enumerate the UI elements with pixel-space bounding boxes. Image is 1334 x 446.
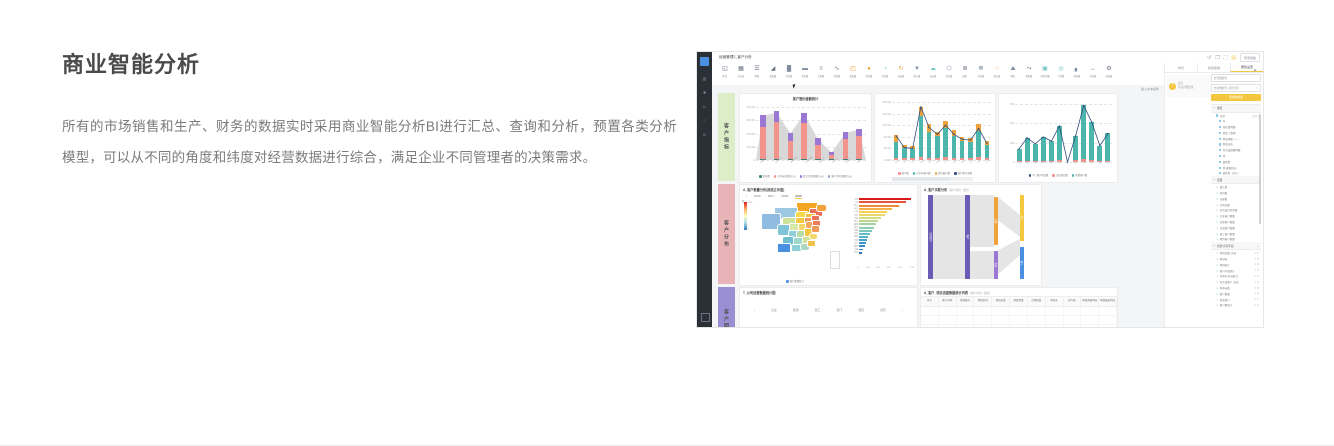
tree-item-label: 合同金额 <box>1220 203 1230 207</box>
article-block: 商业智能分析 所有的市场销售和生产、财务的数据实时采用商业智能分析BI进行汇总、… <box>62 52 677 173</box>
chart-type-label: 明细 <box>755 74 759 77</box>
chart1-x-labels: 中国南方中国北方中国东部中国西部海外区华东区华南区华北区 <box>756 161 866 165</box>
chart-type-icon: ◰ <box>850 65 856 73</box>
chart2-range-slider[interactable] <box>892 177 973 181</box>
bottom-stats-card[interactable]: T_公司经营数据统计图 ‹企业集团员工部门项目合同› <box>739 287 918 327</box>
x-tick: 04月 <box>919 158 925 164</box>
dashboard-canvas: 插入文本组件 客户指标 客户分布 客户明细 客户签约金额统计 400,00030… <box>712 85 1165 327</box>
table-column-header[interactable]: 序号 <box>921 297 939 306</box>
sankey-node-customer[interactable]: 客户 <box>965 195 970 279</box>
legend-item[interactable]: 签约数 <box>759 174 770 178</box>
table-header-row: 序号客户名称项目编号项目名称项目分类项目等级合同阶段中标年天气候项目开始时间项目… <box>921 296 1117 307</box>
table-column-header[interactable]: 合同阶段 <box>1028 297 1046 306</box>
table-column-header[interactable]: 客户名称 <box>939 297 957 306</box>
measure-icon: ∿ <box>1216 221 1218 223</box>
detail-table-card[interactable]: A_客户_项目进度数据统计列表[客户/省份 - 数行] 序号客户名称项目编号项目… <box>920 287 1118 327</box>
tree-group-维度[interactable]: ⌃维度 <box>1211 105 1261 113</box>
globe-icon[interactable]: ✹ <box>702 90 707 95</box>
prev-year-arrow[interactable]: ‹ <box>746 194 747 199</box>
x-tick: 02 <box>1026 161 1029 164</box>
tree-item-label: 季度（四季） <box>1223 131 1238 135</box>
ranking-bar <box>859 249 863 251</box>
tree-item-actions[interactable]: ✎ ⚙ <box>1254 252 1259 255</box>
bottom-tab-集团[interactable]: 集团 <box>793 308 799 312</box>
chart-type-0[interactable]: ◱区域 <box>717 65 733 78</box>
chart-type-label: 树图 <box>963 74 967 77</box>
table-cell <box>1064 325 1082 327</box>
dimension-icon <box>1219 155 1221 157</box>
table-title: A_客户_项目进度数据统计列表[客户/省份 - 数行] <box>924 290 990 295</box>
tree-item-actions[interactable]: ✎ ⚙ <box>1254 263 1259 266</box>
table-cell <box>1046 316 1064 324</box>
chart-type-13[interactable]: ☁词云图 <box>925 65 941 78</box>
bottom-tab-企业[interactable]: 企业 <box>771 308 777 312</box>
legend-label: 已中标客户数 <box>916 172 930 175</box>
ranking-row[interactable]: 广东 <box>850 201 914 204</box>
map-year-tabs[interactable]: ‹2016201720182019 <box>746 194 802 199</box>
chart-type-label: 面积图 <box>770 74 777 77</box>
tree-group-度量[interactable]: ⌃度量 <box>1211 176 1261 184</box>
chart-type-6[interactable]: ≡比例图 <box>813 65 829 78</box>
ranking-bar <box>859 211 887 213</box>
bar-group[interactable] <box>829 107 835 160</box>
map-scale-max: 1542 <box>748 202 752 204</box>
tree-item-label: 客户产值统计 <box>1220 269 1235 273</box>
bar-group[interactable] <box>815 107 821 160</box>
ranking-bar <box>859 205 899 207</box>
sankey-node-finished[interactable]: 竣工 <box>1020 247 1024 279</box>
chart3-legend: YL_客户项目数已投项目数新增客户数 <box>999 173 1117 177</box>
bar-group[interactable] <box>760 107 766 160</box>
grid-icon[interactable]: ▦ <box>1254 68 1257 72</box>
ranking-x-tick: 600 <box>877 267 880 269</box>
x-tick: 10 <box>1091 161 1094 164</box>
tree-item-actions[interactable]: ✎ ⚙ <box>1254 269 1259 272</box>
undo-icon[interactable]: ↺ <box>1207 55 1211 61</box>
x-tick: 10月 <box>968 158 974 164</box>
chart-type-9[interactable]: ●饼状图 <box>861 65 877 78</box>
ranking-bar <box>859 230 872 232</box>
table-cell <box>939 316 957 324</box>
table-cell <box>992 325 1010 327</box>
table-row[interactable] <box>921 307 1117 316</box>
tree-item[interactable]: ∿客户数统计✎ ⚙ <box>1211 303 1261 309</box>
tree-item-actions[interactable]: ✎ ⚙ <box>1254 287 1259 290</box>
dimension-icon <box>1219 167 1221 169</box>
table-cell <box>921 316 939 324</box>
y-tick: 90,000 <box>881 136 891 139</box>
app-rail: ▥ ✹ ⋋ ⟋ ⚖ <box>697 52 712 327</box>
panel-scrollbar[interactable] <box>1259 114 1261 224</box>
table-row[interactable] <box>921 316 1117 325</box>
series-line <box>1015 104 1112 162</box>
map-province[interactable] <box>816 204 827 212</box>
tree-item-actions[interactable]: ✎ ⚙ <box>1254 304 1259 307</box>
sankey-card-customer-relations[interactable]: A_客户关联分布[客户/省份 - 数行] 合同签约 客户 在建 投标 完工 竣工 <box>920 184 1042 286</box>
chart-type-icon: ☁ <box>930 65 936 73</box>
chart-type-label: 雷达图 <box>946 74 953 77</box>
tree-item-label: 客户数统计 <box>1220 303 1233 307</box>
chart2-plot: 180,000150,000120,00090,00060,00030,000 <box>892 102 991 160</box>
chart1-title: 客户签约金额统计 <box>793 96 819 101</box>
ranking-bar <box>859 198 911 200</box>
chart-type-23[interactable]: ↔时间轴 <box>1085 65 1101 78</box>
tree-item-label: 年月 <box>1220 114 1225 118</box>
tree-item-actions[interactable]: ✎ ⚙ <box>1254 275 1259 278</box>
legend-item[interactable]: 签约客户数 <box>935 171 950 175</box>
chart-type-10[interactable]: ◔环形图 <box>877 65 893 78</box>
tree-item-label: 所在省明细... <box>1223 125 1238 129</box>
chart-type-icon: ⤳ <box>1027 65 1032 73</box>
x-tick: 08月 <box>952 158 958 164</box>
chart-type-icon: ◎ <box>1058 65 1063 73</box>
tree-item-actions[interactable]: ✎ ⚙ <box>1254 292 1259 295</box>
ranking-bar <box>859 201 906 203</box>
tree-item-label: 客户数量 <box>1220 292 1230 296</box>
map-province[interactable] <box>807 240 816 247</box>
bottom-tab-部门[interactable]: 部门 <box>837 308 843 312</box>
bar-group[interactable] <box>856 107 862 160</box>
sankey-node-contract[interactable]: 合同签约 <box>928 195 933 279</box>
table-cell <box>1064 307 1082 315</box>
people-icon[interactable]: ⚖ <box>702 132 707 137</box>
table-cell <box>1010 307 1028 315</box>
sankey-link-1 <box>933 195 965 279</box>
chart-type-icon: ≣ <box>962 65 967 73</box>
tree-item-actions[interactable]: ✎ ⚙ <box>1254 298 1259 301</box>
chart-type-label: 环形图 <box>882 74 889 77</box>
table-column-header[interactable]: 项目编号 <box>957 297 975 306</box>
panel-tab-0[interactable]: 样式 <box>1165 63 1197 72</box>
map-card-customer-distribution[interactable]: A_客户数量分布(按成立年度) ‹2016201720182019 数 1542… <box>739 184 918 286</box>
x-tick: 06 <box>1058 161 1061 164</box>
table-cell <box>1010 316 1028 324</box>
y-tick: 0 <box>1004 161 1014 164</box>
dataset-name-input[interactable]: 经营数据仓 <box>1211 74 1261 82</box>
y-tick: 100,000 <box>745 146 755 149</box>
measure-icon: ∿ <box>1216 304 1218 306</box>
legend-swatch <box>935 172 938 175</box>
chart2-x-labels: 01月02月03月04月05月06月07月08月09月10月11月12月 <box>892 161 991 165</box>
chart-type-label: 筛选器 <box>1106 74 1113 77</box>
chart-type-label: 地图 <box>1011 74 1015 77</box>
y-tick: 60,000 <box>881 147 891 150</box>
chart-type-icon: ⚙ <box>1106 65 1111 73</box>
table-cell <box>1064 316 1082 324</box>
table-cell <box>957 307 975 315</box>
year-tab-2019[interactable]: 2019 <box>795 194 802 199</box>
chart-type-7[interactable]: ∿折线图 <box>829 65 845 78</box>
table-column-header[interactable]: 项目名称 <box>974 297 992 306</box>
chart-type-16[interactable]: ☸分布图 <box>973 65 989 78</box>
legend-label: 签约客户数 <box>938 172 950 175</box>
measure-icon: ∿ <box>1216 299 1218 301</box>
table-cell <box>921 325 939 327</box>
chart-type-icon: ◢ <box>771 65 776 73</box>
detail-table: 序号客户名称项目编号项目名称项目分类项目等级合同阶段中标年天气候项目开始时间项目… <box>921 296 1117 327</box>
table-column-header[interactable]: 中标年 <box>1046 297 1064 306</box>
section-label-customer-metrics: 客户指标 <box>718 93 735 181</box>
x-tick: 03月 <box>910 158 916 164</box>
bar-segment-pink <box>856 136 862 159</box>
chart-type-label: 漏斗图 <box>914 74 921 77</box>
table-column-header[interactable]: 项目分类 <box>992 297 1010 306</box>
chart-type-24[interactable]: ⚙筛选器 <box>1101 65 1117 78</box>
tree-item-label: 已签客户数量 <box>1220 220 1235 224</box>
plus-icon[interactable]: + <box>1257 244 1259 248</box>
measure-icon: ∿ <box>1216 293 1218 295</box>
chart-type-19[interactable]: ⤳桑基图 <box>1021 65 1037 78</box>
sankey-link-3 <box>970 251 994 279</box>
legend-item[interactable]: 已中标客户数 <box>913 171 931 175</box>
chart-type-12[interactable]: ▼漏斗图 <box>909 65 925 78</box>
page-title: 商业智能分析 <box>62 52 677 78</box>
tree-item-label: 已中标-万元统计 <box>1220 274 1238 278</box>
chart-type-3[interactable]: ◢面积图 <box>765 65 781 78</box>
chart-type-4[interactable]: █柱状图 <box>781 65 797 78</box>
chart-type-22[interactable]: ▖瀑布图 <box>1069 65 1085 78</box>
tree-item-label: 省区划（合计） <box>1223 171 1241 175</box>
table-cell <box>921 307 939 315</box>
legend-swatch <box>1052 174 1055 177</box>
x-tick: 01月 <box>894 158 900 164</box>
legend-label: 客户数 <box>902 172 909 175</box>
tree-group-label: 维度 <box>1217 106 1223 110</box>
chart-card-monthly-projects[interactable]: 6004002000 010203040506070809101112 YL_客… <box>998 93 1118 183</box>
y-tick: 200,000 <box>745 132 755 135</box>
x-tick: 07 <box>1066 161 1069 164</box>
table-row[interactable] <box>921 325 1117 327</box>
legend-item[interactable]: 已中标(含税万元) <box>774 174 796 178</box>
sankey-node-bidding[interactable]: 投标 <box>994 251 998 279</box>
chart-type-label: 桑基图 <box>1026 74 1033 77</box>
y-tick: 400,000 <box>745 106 755 109</box>
tree-item-label: 已完成客户_万元 <box>1220 280 1239 284</box>
chart-type-label: 柱状图 <box>786 74 793 77</box>
measure-icon: ∿ <box>1216 281 1218 283</box>
ranking-bar <box>859 236 868 238</box>
bottom-tab-合同[interactable]: 合同 <box>880 308 886 312</box>
share-icon[interactable]: ⋋ <box>702 104 707 109</box>
change-dataset-button[interactable]: 更换数据集 <box>1211 94 1261 101</box>
tree-item-label: 项目客户数量 <box>1220 237 1235 241</box>
tree-item-label: 竣工数 <box>1220 185 1228 189</box>
ranking-x-tick: 900 <box>887 267 890 269</box>
right-config-panel: 样式模板数据属性设置 ! 提示 请选择数据集 ▦ ⌄ 经营数据仓 经营数据仓_项… <box>1164 63 1263 327</box>
year-tab-2016[interactable]: 2016 <box>754 194 761 199</box>
legend-item[interactable]: 签订合同金额(万元) <box>800 174 824 178</box>
tree-group-label: 新建计算字段 <box>1217 244 1234 248</box>
x-tick: 12 <box>1107 161 1110 164</box>
chart-card-monthly-customer[interactable]: 180,000150,000120,00090,00060,00030,000 … <box>874 93 996 183</box>
tree-item-actions[interactable]: 层次 ▾ <box>1252 114 1259 118</box>
warning-icon: ! <box>1169 83 1176 90</box>
table-cell <box>1046 325 1064 327</box>
x-tick: 04 <box>1042 161 1045 164</box>
bar-segment-purple <box>856 129 862 136</box>
legend-item[interactable]: 客户合同金额(万元) <box>828 174 852 178</box>
chart-type-icon: ↔ <box>1090 65 1096 73</box>
bar-segment-purple <box>801 113 807 124</box>
dashboard-icon[interactable]: ▥ <box>702 76 707 81</box>
chart-type-20[interactable]: ▣矩形树图 <box>1037 65 1053 78</box>
ranking-row[interactable]: 江苏 <box>850 198 914 201</box>
ranking-bar <box>859 245 865 247</box>
year-tab-2018[interactable]: 2018 <box>781 194 788 199</box>
tree-item-label: 季度分析 <box>1223 142 1233 146</box>
measure-icon: ∿ <box>1216 198 1218 200</box>
chart-type-21[interactable]: ◎气泡图 <box>1053 65 1069 78</box>
table-cell <box>1099 316 1117 324</box>
tree-group-新建计算字段[interactable]: ⌃新建计算字段+ <box>1211 242 1261 250</box>
bar-segment-purple <box>774 111 780 122</box>
measure-icon: ∿ <box>1216 209 1218 211</box>
tree-item-label: 新签客户 <box>1220 298 1230 302</box>
dimension-icon <box>1219 132 1221 134</box>
chart-type-8[interactable]: ◰面积图 <box>845 65 861 78</box>
y-tick: 150,000 <box>881 112 891 115</box>
table-column-header[interactable]: 天气候 <box>1064 297 1082 306</box>
dimension-icon <box>1219 161 1221 163</box>
series-line <box>892 102 991 160</box>
chevron-down-icon[interactable]: ⌄ <box>1258 68 1261 72</box>
chart-type-11[interactable]: ↻仪表盘 <box>893 65 909 78</box>
table-cell <box>1081 316 1099 324</box>
chart-type-2[interactable]: ☰明细 <box>749 65 765 78</box>
legend-label: 签订合同金额(万元) <box>803 175 824 178</box>
map-province[interactable] <box>777 243 791 254</box>
legend-swatch <box>800 175 803 178</box>
field-tree[interactable]: ⌃维度年月层次 ▾年所在省明细...季度（四季）季度明细（一...季度分析已完成… <box>1211 104 1261 309</box>
bar-group[interactable] <box>843 107 849 160</box>
x-tick: 07月 <box>943 158 949 164</box>
south-china-sea-inset <box>830 251 840 269</box>
table-cell <box>1081 325 1099 327</box>
chevron-up-icon: ⌃ <box>1213 106 1215 110</box>
tree-item-actions[interactable]: ✎ ⚙ <box>1254 258 1259 261</box>
y-tick: 120,000 <box>881 124 891 127</box>
legend-label: YL_客户项目数 <box>1032 174 1048 177</box>
bottom-tab-项目[interactable]: 项目 <box>858 308 864 312</box>
chart-type-label: 时间轴 <box>1090 74 1097 77</box>
chart-icon[interactable]: ⟋ <box>702 118 707 123</box>
legend-label: 已投项目数 <box>1056 174 1068 177</box>
table-cell <box>939 307 957 315</box>
settings-icon[interactable] <box>701 313 710 322</box>
dimension-icon <box>1219 120 1221 122</box>
bottom-card-tabs[interactable]: ‹企业集团员工部门项目合同› <box>746 308 911 312</box>
bar-segment-pink <box>774 122 780 158</box>
prev-tab-arrow[interactable]: ‹ <box>754 308 755 312</box>
dataset-select[interactable]: 经营数据仓_项目合同 <box>1211 84 1261 92</box>
chart-card-customer-contract[interactable]: 客户签约金额统计 400,000300,000200,000100,0000 中… <box>739 93 872 183</box>
x-tick: 01 <box>1018 161 1021 164</box>
save-icon[interactable]: ▤ <box>1231 55 1236 61</box>
table-column-header[interactable]: 项目开始时间 <box>1081 297 1099 306</box>
chart-type-5[interactable]: ▬条形图 <box>797 65 813 78</box>
ranking-bar <box>859 227 874 229</box>
x-tick: 11 <box>1099 161 1102 164</box>
measure-icon: ∿ <box>1216 186 1218 188</box>
tree-item-label: 项目统计 <box>1220 263 1230 267</box>
bar-segment-purple <box>788 133 794 141</box>
table-cell <box>939 325 957 327</box>
tree-item-label: 月 <box>1223 154 1226 158</box>
chart-type-17[interactable]: ⁘散点图 <box>989 65 1005 78</box>
chart-type-18[interactable]: ⛰地图 <box>1005 65 1021 78</box>
app-logo-icon <box>700 57 709 66</box>
tree-item-actions[interactable]: ✎ ⚙ <box>1254 281 1259 284</box>
legend-swatch <box>1072 174 1075 177</box>
y-tick: 600 <box>1004 103 1014 106</box>
tree-item-label: 年 <box>1223 119 1226 123</box>
x-tick: 02月 <box>902 158 908 164</box>
measure-icon: ∿ <box>1216 264 1218 266</box>
chart-type-label: 折线图 <box>834 74 841 77</box>
table-cell <box>974 316 992 324</box>
chart1-plot: 400,000300,000200,000100,0000 <box>756 107 866 160</box>
tree-item-label: 企业客户数量 <box>1220 214 1235 218</box>
bar-group[interactable] <box>788 107 794 160</box>
legend-item[interactable]: YL_客户项目数 <box>1029 173 1049 177</box>
x-tick: 09月 <box>960 158 966 164</box>
chart-type-14[interactable]: ⬡雷达图 <box>941 65 957 78</box>
chart-type-label: 矩形树图 <box>1041 74 1050 77</box>
table-column-header[interactable]: 项目等级 <box>1010 297 1028 306</box>
dataset-config-column: ▦ ⌄ 经营数据仓 经营数据仓_项目合同 更换数据集 ⌃维度年月层次 ▾年所在省… <box>1211 74 1261 327</box>
chart-type-15[interactable]: ≣树图 <box>957 65 973 78</box>
ranking-label: 重庆 <box>850 251 858 254</box>
chart-type-list: ◱区域▦交叉表☰明细◢面积图█柱状图▬条形图≡比例图∿折线图◰面积图●饼状图◔环… <box>717 65 1203 78</box>
table-cell <box>1099 307 1117 315</box>
chart-type-icon: █ <box>787 65 791 73</box>
legend-item[interactable]: 客户累计金额 <box>954 171 972 175</box>
legend-swatch <box>828 175 831 178</box>
legend-item[interactable]: 客户数 <box>898 171 909 175</box>
legend-swatch <box>759 175 762 178</box>
crop-icon[interactable]: ⛶ <box>1224 55 1228 61</box>
legend-item[interactable]: 已投项目数 <box>1052 173 1067 177</box>
preview-template-button[interactable]: 预览模板 <box>1240 53 1260 62</box>
chart-type-1[interactable]: ▦交叉表 <box>733 65 749 78</box>
chart-type-label: 词云图 <box>930 74 937 77</box>
tree-item-label: 在建数 <box>1220 197 1228 201</box>
legend-item[interactable]: 新增客户数 <box>1072 173 1087 177</box>
sankey-node-inprogress[interactable]: 在建 <box>994 197 998 245</box>
y-tick: 30,000 <box>881 159 891 162</box>
sankey-node-completed[interactable]: 完工 <box>1020 195 1024 241</box>
tree-item-label: 月-省级划分... <box>1223 166 1238 170</box>
tree-item-label: 省区划 <box>1223 160 1231 164</box>
bar-segment-purple <box>815 138 821 145</box>
bar-group[interactable] <box>774 107 780 160</box>
insert-text-component-button[interactable]: 插入文本组件 <box>1141 87 1159 91</box>
copy-icon[interactable]: ❐ <box>1215 55 1219 61</box>
bar-group[interactable] <box>801 107 807 160</box>
chart-type-icon: ⁘ <box>994 65 999 73</box>
ranking-row[interactable]: 重庆 <box>850 251 914 254</box>
ranking-bar <box>859 223 876 225</box>
map-color-scale <box>744 202 747 230</box>
measure-icon: ∿ <box>1216 227 1218 229</box>
year-tab-2017[interactable]: 2017 <box>768 194 775 199</box>
table-column-header[interactable]: 项目结束时间 <box>1099 297 1117 306</box>
next-tab-arrow[interactable]: › <box>902 308 903 312</box>
y-tick: 400 <box>1004 122 1014 125</box>
chart-type-label: 仪表盘 <box>898 74 905 77</box>
legend-swatch <box>913 172 916 175</box>
bottom-tab-员工[interactable]: 员工 <box>815 308 821 312</box>
